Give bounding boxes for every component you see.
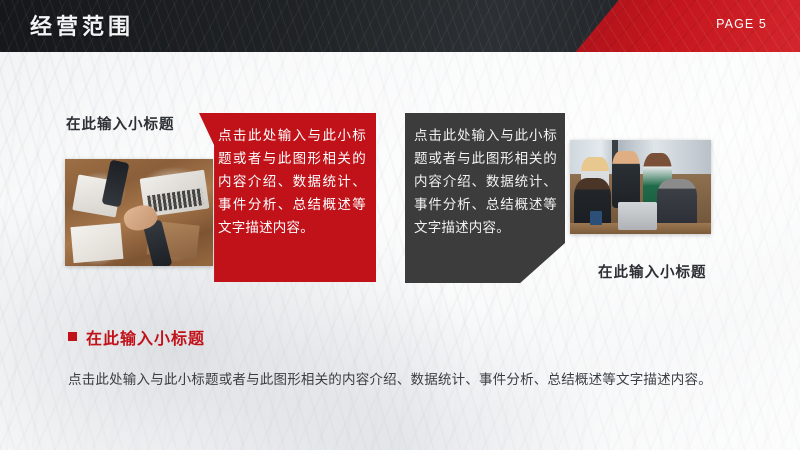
- right-photo-laptop: [618, 202, 657, 230]
- right-subtitle: 在此输入小标题: [598, 261, 707, 282]
- page-title: 经营范围: [30, 9, 134, 41]
- left-callout-text: 点击此处输入与此小标题或者与此图形相关的内容介绍、数据统计、事件分析、总结概述等…: [218, 124, 366, 239]
- right-photo-person-2: [612, 151, 640, 207]
- slide: 经营范围 PAGE 5 在此输入小标题 点击此处输入与此小标题或者与此图形相关的…: [0, 0, 800, 450]
- left-photo-arm-upper: [102, 160, 130, 208]
- right-callout-text: 点击此处输入与此小标题或者与此图形相关的内容介绍、数据统计、事件分析、总结概述等…: [414, 124, 557, 239]
- left-subtitle: 在此输入小标题: [66, 113, 175, 134]
- right-photo-person-5: [657, 179, 696, 226]
- bottom-subtitle: 在此输入小标题: [86, 325, 205, 349]
- left-photo: [65, 159, 213, 266]
- bullet-square-icon: [68, 332, 77, 341]
- bottom-body-text: 点击此处输入与此小标题或者与此图形相关的内容介绍、数据统计、事件分析、总结概述等…: [68, 368, 728, 391]
- right-photo: [570, 140, 711, 234]
- page-number: PAGE 5: [716, 17, 767, 31]
- right-photo-cup: [590, 211, 603, 224]
- header-bar: 经营范围 PAGE 5: [0, 0, 800, 52]
- left-photo-papers: [71, 223, 124, 264]
